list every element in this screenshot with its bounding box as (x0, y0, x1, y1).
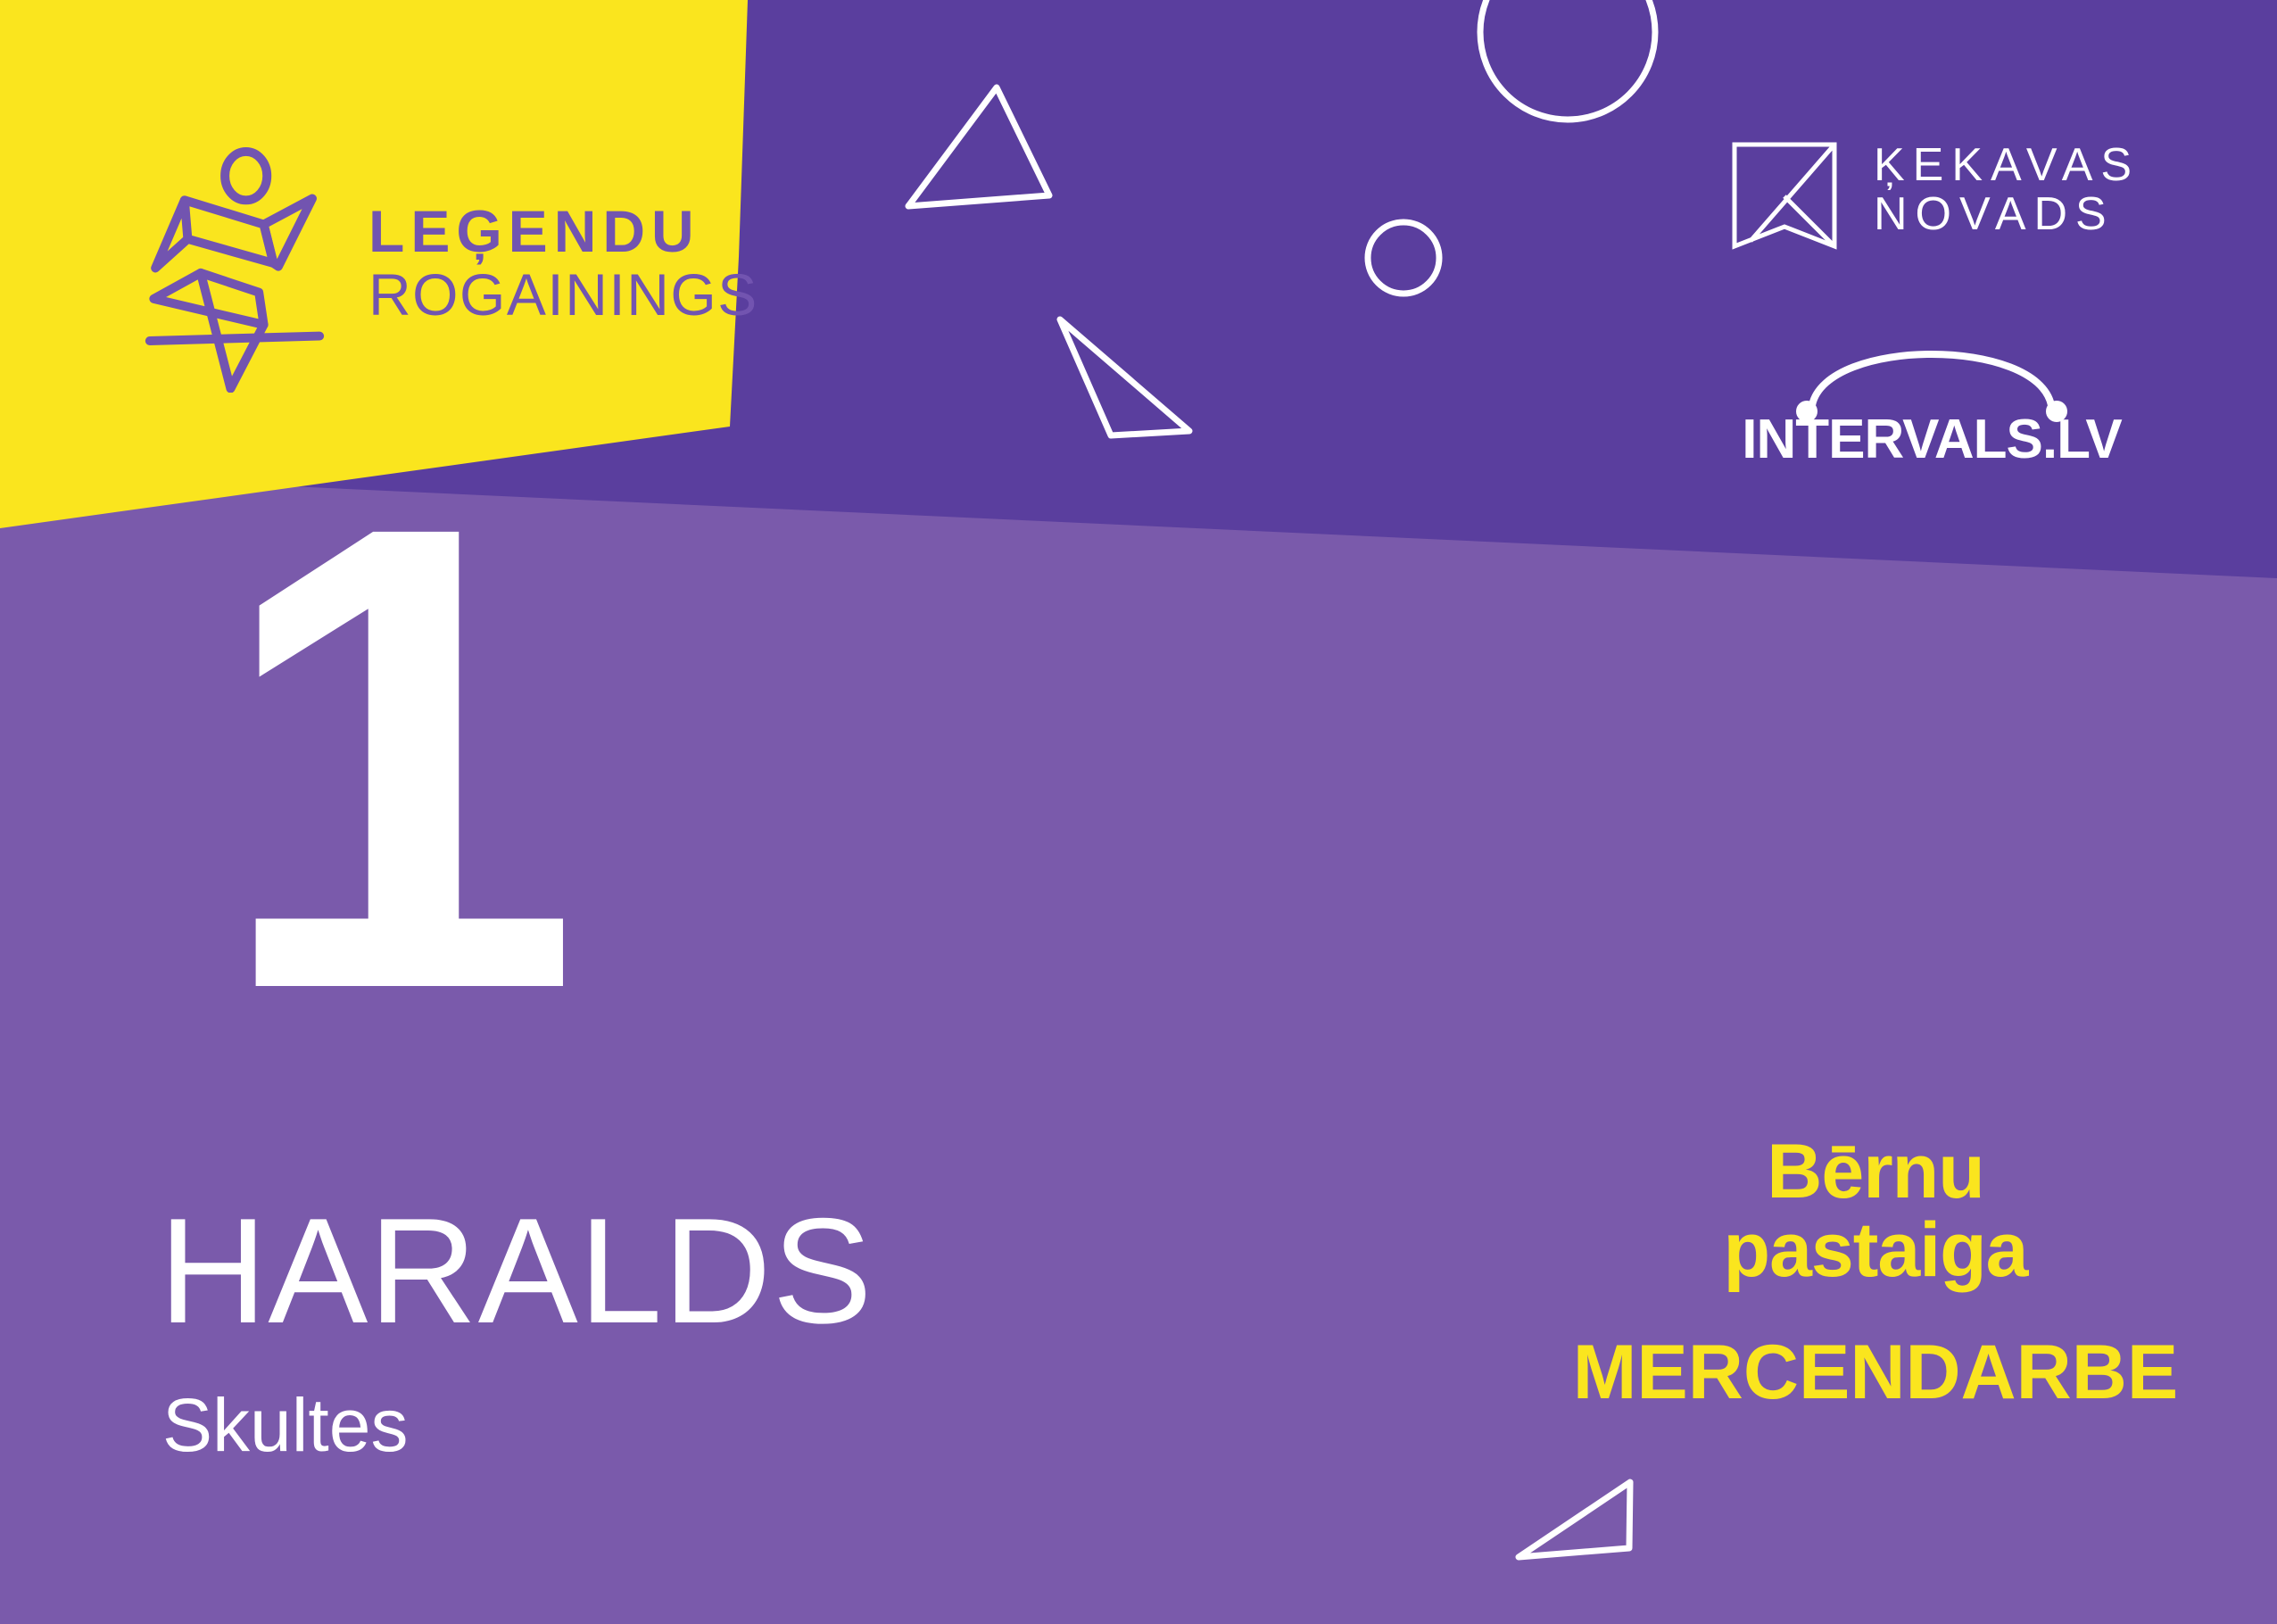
category-line-2: pastaiga (1528, 1212, 2223, 1290)
race-bib-poster: LEĢENDU ROGAININGS ĶEKAVAS NOVADS INTERV… (0, 0, 2277, 1624)
brand-line-1: LEĢENDU (368, 203, 758, 260)
sponsor-intervals-lv: INTERVALS.LV (1722, 328, 2141, 471)
running-figure-icon (143, 134, 335, 393)
event-brand-wordmark: LEĢENDU ROGAININGS (368, 203, 758, 322)
intervals-wordmark: INTERVALS.LV (1742, 408, 2121, 471)
kekava-wordmark: ĶEKAVAS NOVADS (1874, 141, 2140, 238)
sponsor-kekavas-novads: ĶEKAVAS NOVADS (1731, 141, 2140, 250)
kekava-line-1: ĶEKAVAS (1874, 141, 2140, 190)
bib-number: 1 (214, 500, 573, 1015)
category-line-1: Bērnu (1528, 1133, 2223, 1212)
participant-name: HARALDS (159, 1196, 874, 1346)
brand-line-2: ROGAININGS (368, 267, 758, 323)
category-block: Bērnu pastaiga MERCENDARBE (1528, 1133, 2223, 1417)
event-brand-lockup: LEĢENDU ROGAININGS (143, 134, 758, 393)
kekava-flag-k-icon (1731, 141, 1838, 250)
class-name: MERCENDARBE (1528, 1329, 2223, 1417)
participant-club: Skultes (162, 1388, 408, 1462)
kekava-line-2: NOVADS (1874, 190, 2140, 239)
